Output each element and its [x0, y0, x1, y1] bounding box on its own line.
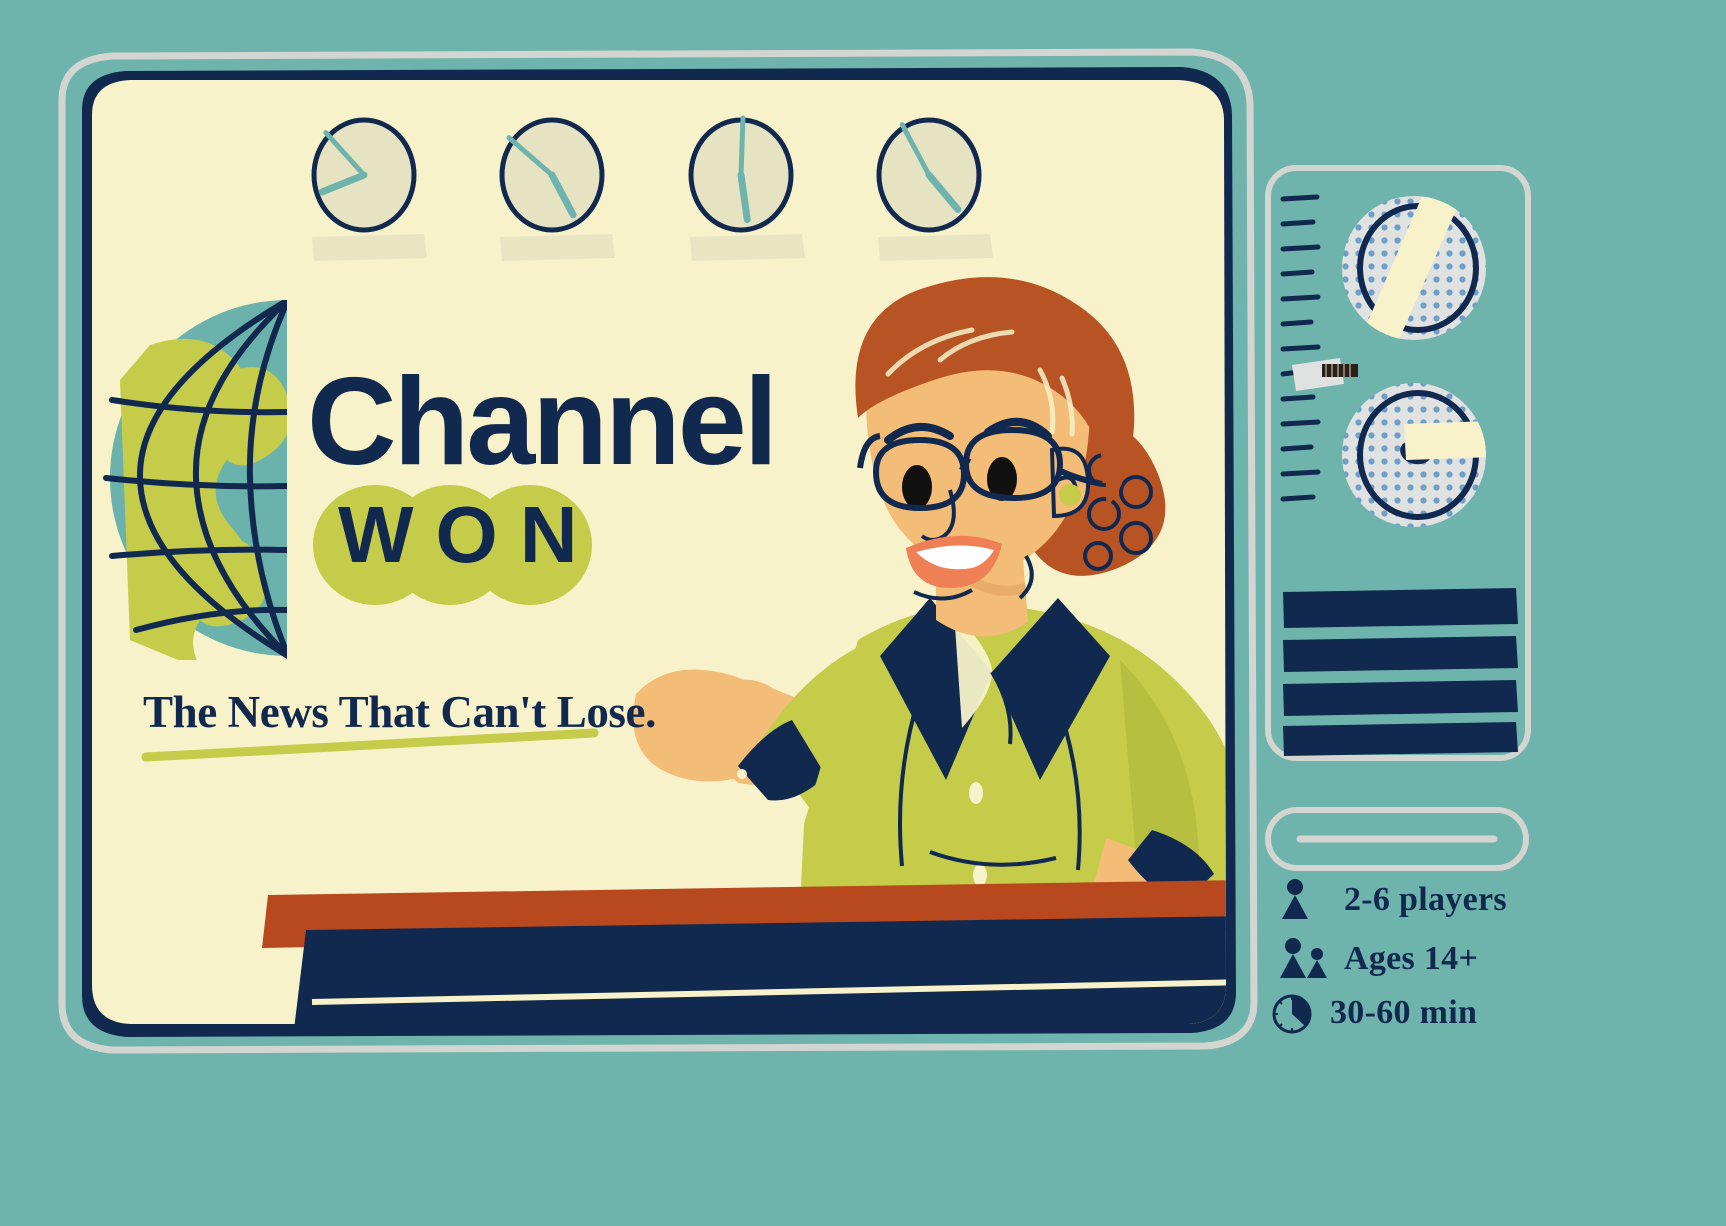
age-rating-row: Ages 14+ [1278, 938, 1478, 980]
box-art-stage: Channel WON The News That Can't Lose. 2-… [0, 0, 1726, 1226]
play-time-label: 30-60 min [1330, 994, 1477, 1032]
clock-4 [879, 120, 979, 230]
player-pawn-icon [1278, 879, 1330, 921]
player-count-label: 2-6 players [1344, 881, 1507, 919]
scene-artwork [0, 0, 1726, 1226]
player-count-row: 2-6 players [1278, 879, 1507, 921]
brand-name-secondary: WON [338, 495, 600, 575]
play-time-row: 30-60 min [1270, 991, 1477, 1035]
clock-2 [502, 120, 602, 230]
tv-screen [80, 70, 1264, 1046]
age-rating-label: Ages 14+ [1344, 940, 1478, 978]
earring [1059, 484, 1081, 506]
clock-1 [314, 120, 414, 230]
clock-3 [691, 118, 791, 230]
brand-name-primary: Channel [307, 360, 775, 484]
brand-tagline: The News That Can't Lose. [143, 686, 656, 738]
clock-timer-icon [1270, 991, 1316, 1035]
two-pawns-icon [1278, 938, 1330, 980]
news-desk [262, 880, 1252, 1046]
